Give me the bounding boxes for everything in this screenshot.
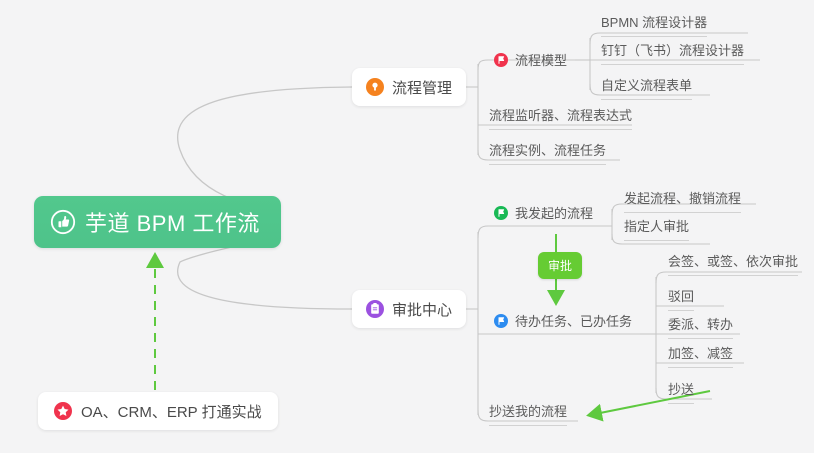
subnode-my-started-processes[interactable]: 我发起的流程 — [494, 203, 593, 222]
subnode-process-model[interactable]: 流程模型 — [494, 50, 567, 69]
subnode-todo-done-tasks[interactable]: 待办任务、已办任务 — [494, 311, 632, 330]
leaf-cc-to-me-processes[interactable]: 抄送我的流程 — [489, 401, 567, 426]
root-node-label: 芋道 BPM 工作流 — [85, 206, 260, 238]
leaf-label: 抄送我的流程 — [489, 404, 567, 419]
subnode-label-process-model: 流程模型 — [515, 50, 567, 69]
thumbs-up-icon — [50, 209, 76, 235]
leaf-start-cancel-process[interactable]: 发起流程、撤销流程 — [624, 188, 741, 213]
branch-node-approval-center[interactable]: 审批中心 — [352, 290, 466, 328]
leaf-dingtalk-designer[interactable]: 钉钉（飞书）流程设计器 — [601, 40, 744, 65]
annotation-badge-label: 审批 — [548, 259, 572, 273]
leaf-carbon-copy[interactable]: 抄送 — [668, 379, 694, 404]
lightbulb-pin-icon — [366, 78, 384, 96]
flag-icon — [494, 206, 508, 220]
leaf-add-remove-sign[interactable]: 加签、减签 — [668, 343, 733, 368]
leaf-assigned-approver[interactable]: 指定人审批 — [624, 216, 689, 241]
subnode-label-my-started-processes: 我发起的流程 — [515, 203, 593, 222]
branch-label-process-management: 流程管理 — [392, 77, 452, 98]
leaf-instance-task[interactable]: 流程实例、流程任务 — [489, 140, 606, 165]
flag-icon — [494, 53, 508, 67]
leaf-label: BPMN 流程设计器 — [601, 15, 707, 30]
leaf-label: 发起流程、撤销流程 — [624, 191, 741, 206]
leaf-label: 指定人审批 — [624, 219, 689, 234]
leaf-label: 流程监听器、流程表达式 — [489, 108, 632, 123]
clipboard-icon — [366, 300, 384, 318]
star-icon — [54, 402, 72, 420]
leaf-label: 会签、或签、依次审批 — [668, 254, 798, 269]
note-card-label: OA、CRM、ERP 打通实战 — [81, 401, 262, 422]
leaf-custom-form[interactable]: 自定义流程表单 — [601, 75, 692, 100]
note-card-integration[interactable]: OA、CRM、ERP 打通实战 — [38, 392, 278, 430]
connector-ac-to-mystarted — [478, 226, 590, 238]
leaf-listener-expression[interactable]: 流程监听器、流程表达式 — [489, 105, 632, 130]
leaf-reject[interactable]: 驳回 — [668, 286, 694, 311]
leaf-countersign-modes[interactable]: 会签、或签、依次审批 — [668, 251, 798, 276]
connector-root-to-process-management — [178, 87, 352, 212]
leaf-label: 驳回 — [668, 289, 694, 304]
leaf-label: 委派、转办 — [668, 317, 733, 332]
flag-icon — [494, 314, 508, 328]
branch-label-approval-center: 审批中心 — [392, 299, 452, 320]
leaf-label: 加签、减签 — [668, 346, 733, 361]
branch-node-process-management[interactable]: 流程管理 — [352, 68, 466, 106]
leaf-label: 钉钉（飞书）流程设计器 — [601, 43, 744, 58]
leaf-label: 抄送 — [668, 382, 694, 397]
subnode-label-todo-done-tasks: 待办任务、已办任务 — [515, 311, 632, 330]
leaf-delegate-transfer[interactable]: 委派、转办 — [668, 314, 733, 339]
mindmap-canvas: 芋道 BPM 工作流 流程管理 流程模型 BPMN 流程设计器 钉钉（飞书）流程… — [0, 0, 814, 453]
leaf-label: 自定义流程表单 — [601, 78, 692, 93]
leaf-bpmn-designer[interactable]: BPMN 流程设计器 — [601, 12, 707, 37]
annotation-badge-approve: 审批 — [538, 252, 582, 279]
root-node[interactable]: 芋道 BPM 工作流 — [34, 196, 281, 248]
leaf-label: 流程实例、流程任务 — [489, 143, 606, 158]
